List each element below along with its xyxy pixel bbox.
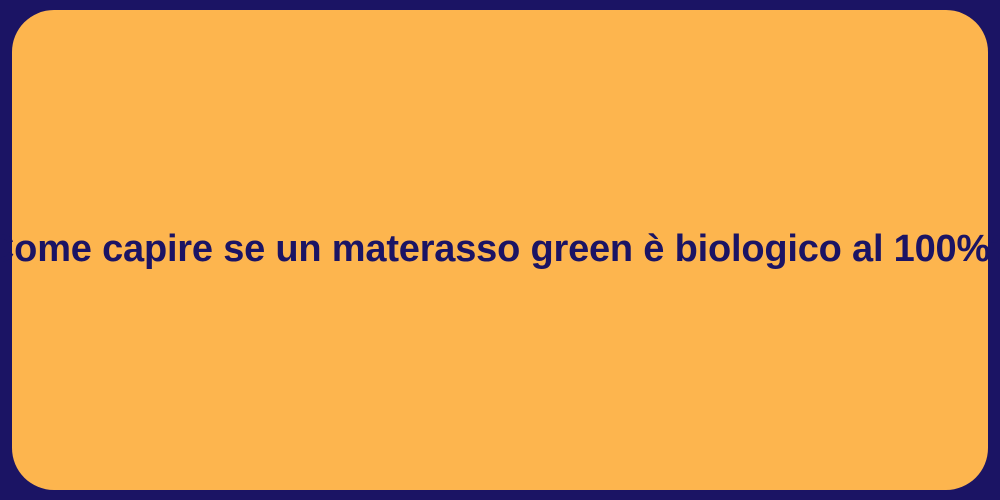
banner-card: Come capire se un materasso green è biol…: [12, 10, 988, 490]
banner-frame: Come capire se un materasso green è biol…: [0, 0, 1000, 500]
banner-headline: Come capire se un materasso green è biol…: [0, 226, 1000, 274]
